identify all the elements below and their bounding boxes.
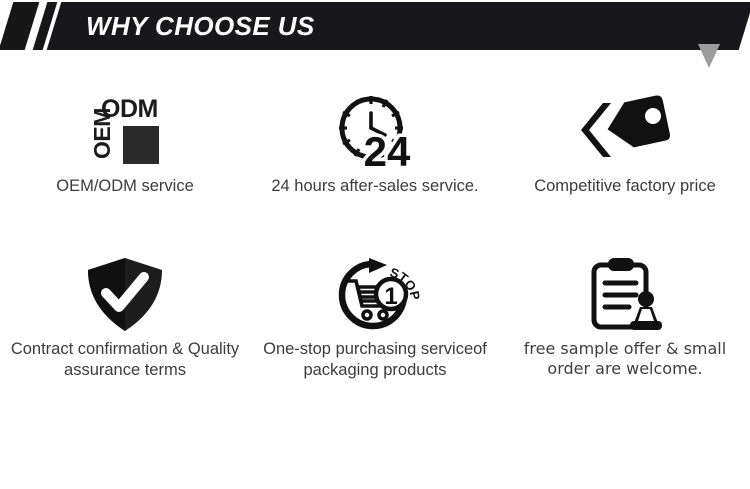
one-stop-shopping-cart-icon: 1 STOP: [325, 254, 425, 336]
feature-caption: 24 hours after-sales service.: [255, 176, 495, 197]
feature-caption: free sample offer & small order are welc…: [505, 339, 745, 380]
icon-container: ODM OEM: [83, 92, 167, 172]
shield-check-icon: [82, 255, 168, 335]
feature-item-free-sample: free sample offer & small order are welc…: [500, 255, 750, 418]
feature-item-24-hours: 24 24 hours after-sales service.: [250, 92, 500, 255]
icon-container: [82, 255, 168, 335]
chevron-down-icon: [698, 44, 720, 68]
icon-container: 1 STOP: [325, 255, 425, 335]
icon-container: [580, 255, 670, 335]
feature-caption: OEM/ODM service: [5, 176, 245, 197]
clipboard-stamp-icon: [580, 255, 670, 335]
feature-caption: Contract confirmation & Quality assuranc…: [5, 339, 245, 381]
odm-square-block: [123, 126, 159, 164]
feature-caption: Competitive factory price: [505, 176, 745, 197]
oem-label: OEM: [90, 113, 114, 159]
icon-container: 24: [327, 92, 423, 172]
cart-number-label: 1: [384, 283, 397, 310]
price-tags-icon: [577, 93, 673, 171]
decorative-slash-bar-1: [0, 2, 39, 50]
icon-container: [577, 92, 673, 172]
odm-oem-badge-icon: ODM OEM: [83, 96, 167, 168]
feature-item-price: Competitive factory price: [500, 92, 750, 255]
page-title: WHY CHOOSE US: [86, 9, 315, 43]
feature-item-quality: Contract confirmation & Quality assuranc…: [0, 255, 250, 418]
feature-caption: One-stop purchasing serviceof packaging …: [255, 339, 495, 381]
clock-number-label: 24: [364, 128, 411, 172]
feature-item-oem-odm: ODM OEM OEM/ODM service: [0, 92, 250, 255]
clock-24-hours-icon: 24: [327, 92, 423, 172]
feature-grid: ODM OEM OEM/ODM service: [0, 92, 750, 418]
feature-item-one-stop: 1 STOP One-stop purchasing serviceof pac…: [250, 255, 500, 418]
section-header-banner: WHY CHOOSE US: [0, 0, 750, 90]
